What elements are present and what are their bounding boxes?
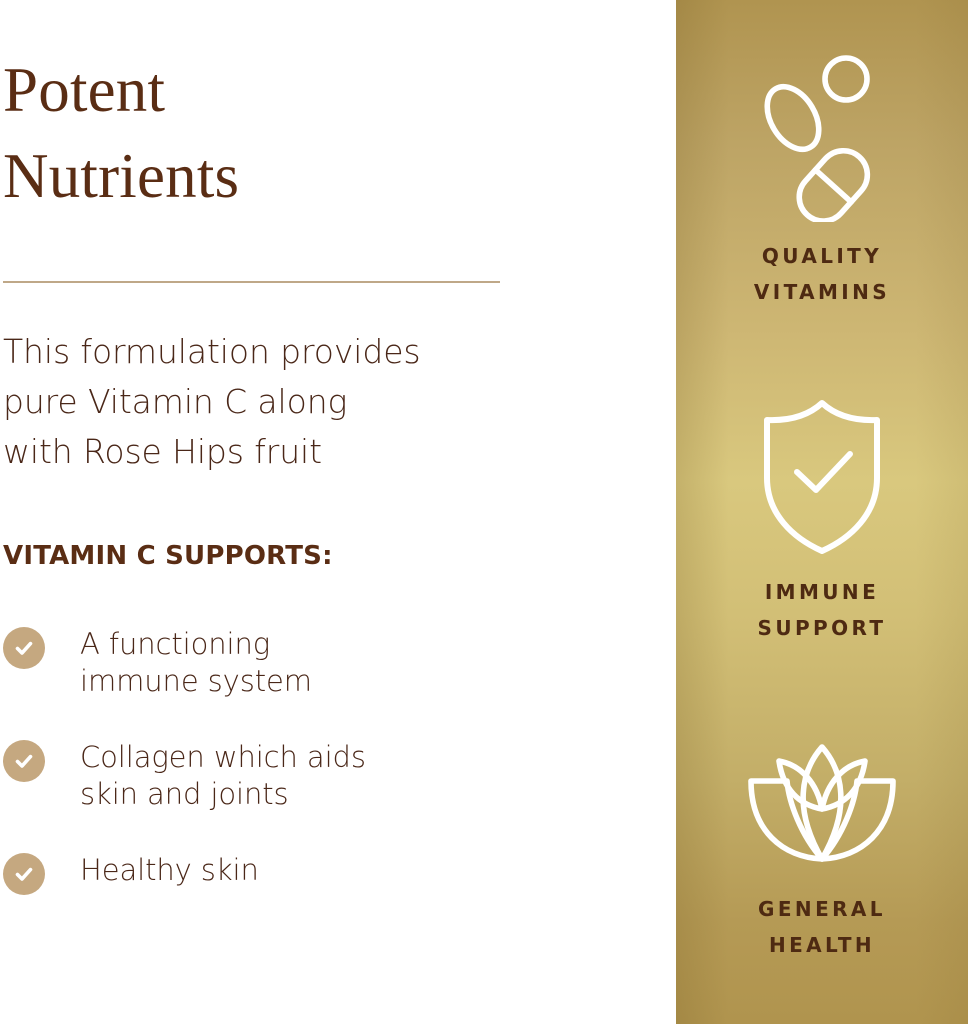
feature-2-label-line-1: IMMUNE — [758, 574, 887, 610]
feature-label: IMMUNE SUPPORT — [758, 574, 887, 646]
benefit-text: A functioning immune system — [80, 624, 312, 700]
product-benefits-panel: Potent Nutrients This formulation provid… — [0, 0, 968, 1024]
intro-line-3: with Rose Hips fruit — [3, 427, 623, 477]
feature-quality-vitamins: QUALITY VITAMINS — [676, 52, 968, 310]
list-item: A functioning immune system — [3, 624, 643, 700]
intro-line-2: pure Vitamin C along — [3, 377, 623, 427]
feature-general-health: GENERAL HEALTH — [676, 735, 968, 963]
benefit-text: Collagen which aids skin and joints — [80, 737, 366, 813]
list-item: Healthy skin — [3, 850, 643, 895]
benefit-3-line-1: Healthy skin — [80, 852, 259, 889]
feature-label: GENERAL HEALTH — [758, 891, 886, 963]
feature-2-label-line-2: SUPPORT — [758, 610, 887, 646]
check-circle-icon — [3, 627, 45, 669]
feature-1-label-line-1: QUALITY — [754, 238, 890, 274]
benefit-1-line-2: immune system — [80, 663, 312, 700]
supports-heading: VITAMIN C SUPPORTS: — [3, 541, 333, 571]
benefits-list: A functioning immune system Collagen whi… — [3, 624, 643, 932]
page-title: Potent Nutrients — [3, 48, 623, 219]
pills-icon — [747, 52, 897, 222]
page-title-line-2: Nutrients — [3, 134, 623, 220]
check-circle-icon — [3, 853, 45, 895]
intro-line-1: This formulation provides — [3, 327, 623, 377]
page-title-line-1: Potent — [3, 48, 623, 134]
benefit-text: Healthy skin — [80, 850, 259, 889]
check-circle-icon — [3, 740, 45, 782]
feature-3-label-line-1: GENERAL — [758, 891, 886, 927]
feature-3-label-line-2: HEALTH — [758, 927, 886, 963]
feature-label: QUALITY VITAMINS — [754, 238, 890, 310]
shield-check-icon — [747, 398, 897, 558]
intro-paragraph: This formulation provides pure Vitamin C… — [3, 327, 623, 477]
left-content-column: Potent Nutrients This formulation provid… — [0, 0, 676, 1024]
benefit-2-line-1: Collagen which aids — [80, 739, 366, 776]
feature-immune-support: IMMUNE SUPPORT — [676, 398, 968, 646]
lotus-flower-icon — [739, 735, 905, 875]
benefit-2-line-2: skin and joints — [80, 776, 366, 813]
list-item: Collagen which aids skin and joints — [3, 737, 643, 813]
benefit-1-line-1: A functioning — [80, 626, 312, 663]
title-divider-rule — [3, 281, 500, 283]
feature-1-label-line-2: VITAMINS — [754, 274, 890, 310]
gold-feature-sidebar: QUALITY VITAMINS IMMUNE SUPPORT — [676, 0, 968, 1024]
